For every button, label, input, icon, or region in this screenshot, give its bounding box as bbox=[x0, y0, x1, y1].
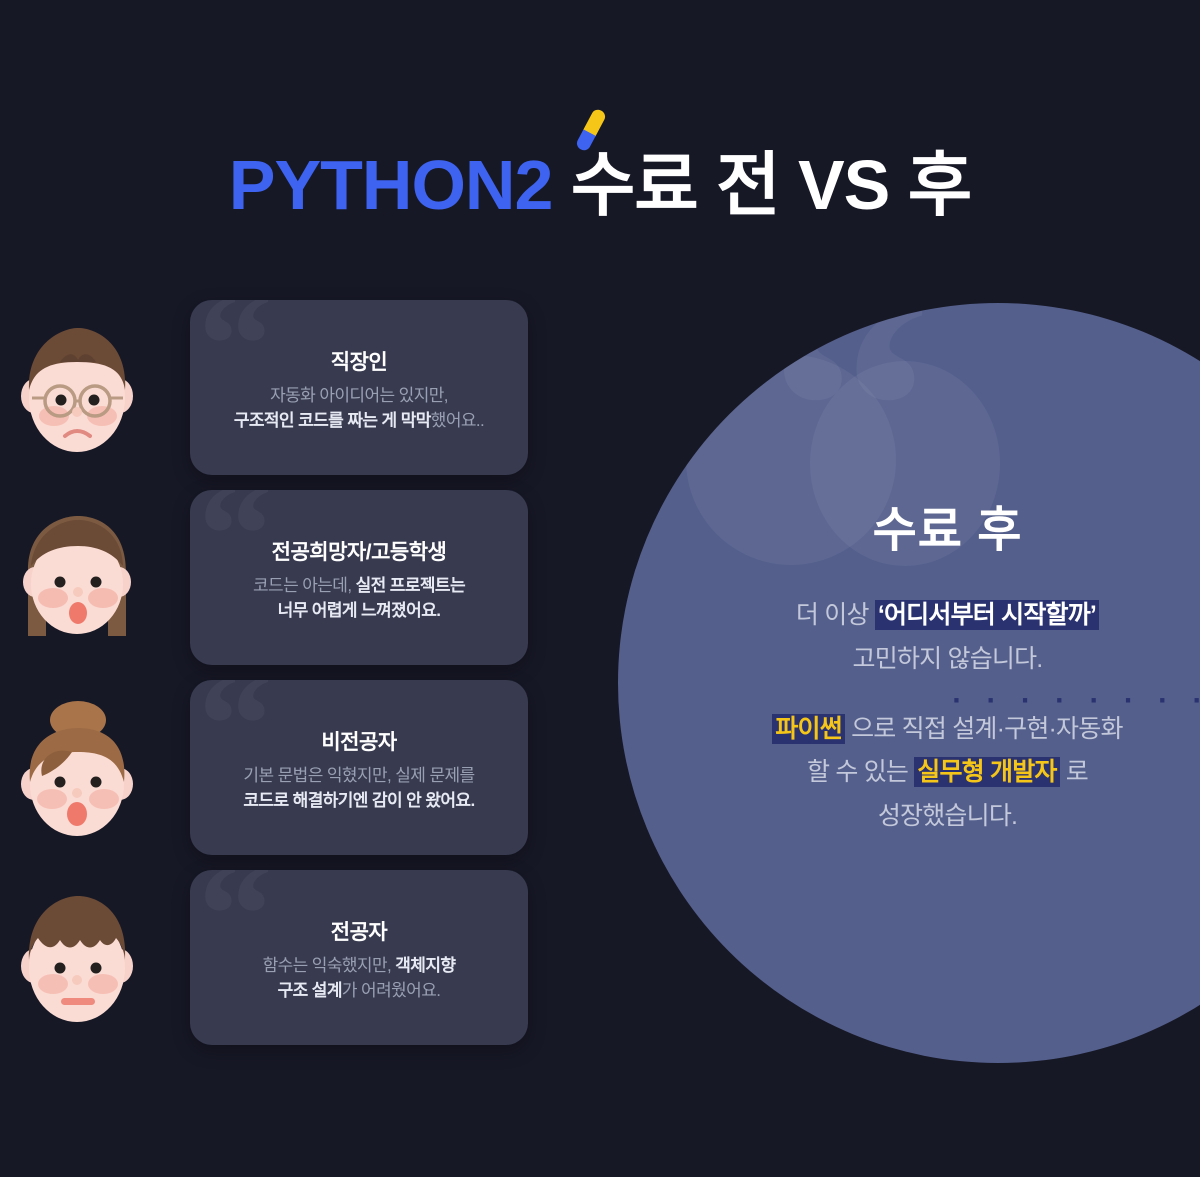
text-bold: 객체지향 bbox=[395, 956, 455, 975]
testimonial-bubble: “ 전공희망자/고등학생 코드는 아는데, 실전 프로젝트는 너무 어렵게 느껴… bbox=[190, 490, 528, 665]
text-bold: 너무 어렵게 느껴졌어요. bbox=[278, 601, 441, 620]
text-plain: 기본 문법은 익혔지만, 실제 문제를 bbox=[243, 766, 474, 785]
highlight-yellow: 파이썬 bbox=[772, 714, 845, 744]
testimonial-bubble: “ 직장인 자동화 아이디어는 있지만, 구조적인 코드를 짜는 게 막막했어요… bbox=[190, 300, 528, 475]
after-line-3: 파이썬 으로 직접 설계·구현·자동화 bbox=[695, 708, 1200, 752]
text-plain: 자동화 아이디어는 있지만, bbox=[270, 386, 448, 405]
after-line-2: 고민하지 않습니다. bbox=[695, 638, 1200, 682]
highlight-navy: ‘어디서부터 시작할까’ bbox=[875, 600, 1099, 630]
testimonial-line-2: 너무 어렵게 느껴졌어요. bbox=[208, 599, 510, 624]
page-title: PYTHON2 수료 전 VS 후 bbox=[0, 150, 1200, 220]
avatar-long-hair-surprised bbox=[12, 508, 142, 658]
text-plain: 더 이상 bbox=[796, 601, 875, 629]
avatar-bowl-cut-neutral bbox=[12, 888, 142, 1038]
testimonial-bubble: “ 전공자 함수는 익숙했지만, 객체지향 구조 설계가 어려웠어요. bbox=[190, 870, 528, 1045]
list-item: “ 전공자 함수는 익숙했지만, 객체지향 구조 설계가 어려웠어요. bbox=[0, 870, 560, 1060]
after-line-1: 더 이상 ‘어디서부터 시작할까’ bbox=[695, 594, 1200, 638]
text-bold: 코드로 해결하기엔 감이 안 왔어요. bbox=[243, 791, 474, 810]
testimonial-list: “ 직장인 자동화 아이디어는 있지만, 구조적인 코드를 짜는 게 막막했어요… bbox=[0, 300, 560, 1060]
dotted-emphasis-text: 설계·구현·자동화 bbox=[952, 708, 1122, 752]
testimonial-line-1: 자동화 아이디어는 있지만, bbox=[208, 384, 510, 409]
after-panel-content: 수료 후 더 이상 ‘어디서부터 시작할까’ 고민하지 않습니다. 파이썬 으로… bbox=[695, 490, 1200, 839]
title-text: PYTHON2 수료 전 VS 후 bbox=[0, 150, 1200, 220]
testimonial-role: 전공희망자/고등학생 bbox=[208, 536, 510, 566]
list-item: “ 전공희망자/고등학생 코드는 아는데, 실전 프로젝트는 너무 어렵게 느껴… bbox=[0, 490, 560, 680]
testimonial-role: 전공자 bbox=[208, 916, 510, 946]
after-line-4: 할 수 있는 실무형 개발자 로 bbox=[695, 751, 1200, 795]
text-bold: 구조 설계 bbox=[278, 981, 342, 1000]
title-brand: PYTHON2 bbox=[229, 146, 553, 224]
text-plain: 했어요.. bbox=[431, 411, 484, 430]
testimonial-bubble: “ 비전공자 기본 문법은 익혔지만, 실제 문제를 코드로 해결하기엔 감이 … bbox=[190, 680, 528, 855]
list-item: “ 직장인 자동화 아이디어는 있지만, 구조적인 코드를 짜는 게 막막했어요… bbox=[0, 300, 560, 490]
text-plain: 코드는 아는데, bbox=[253, 576, 356, 595]
list-item: “ 비전공자 기본 문법은 익혔지만, 실제 문제를 코드로 해결하기엔 감이 … bbox=[0, 680, 560, 870]
text-plain: 할 수 있는 bbox=[807, 758, 914, 786]
testimonial-line-1: 코드는 아는데, 실전 프로젝트는 bbox=[208, 574, 510, 599]
testimonial-line-2: 구조적인 코드를 짜는 게 막막했어요.. bbox=[208, 409, 510, 434]
text-plain: 가 어려웠어요. bbox=[342, 981, 441, 1000]
text-plain: 로 bbox=[1060, 758, 1088, 786]
highlight-yellow: 실무형 개발자 bbox=[914, 757, 1059, 787]
avatar-hair-bun-surprised bbox=[12, 698, 142, 848]
text-plain: 으로 직접 bbox=[845, 715, 952, 743]
testimonial-line-1: 기본 문법은 익혔지만, 실제 문제를 bbox=[208, 764, 510, 789]
testimonial-role: 직장인 bbox=[208, 346, 510, 376]
avatar-office-worker-glasses-frown bbox=[12, 318, 142, 468]
after-panel-title: 수료 후 bbox=[695, 490, 1200, 560]
after-line-5: 성장했습니다. bbox=[695, 795, 1200, 839]
text-plain: 함수는 익숙했지만, bbox=[263, 956, 396, 975]
testimonial-line-2: 코드로 해결하기엔 감이 안 왔어요. bbox=[208, 789, 510, 814]
testimonial-role: 비전공자 bbox=[208, 726, 510, 756]
text-bold: 구조적인 코드를 짜는 게 막막 bbox=[234, 411, 431, 430]
title-rest: 수료 전 VS 후 bbox=[571, 146, 971, 224]
testimonial-line-1: 함수는 익숙했지만, 객체지향 bbox=[208, 954, 510, 979]
text-bold: 실전 프로젝트는 bbox=[356, 576, 465, 595]
testimonial-line-2: 구조 설계가 어려웠어요. bbox=[208, 979, 510, 1004]
